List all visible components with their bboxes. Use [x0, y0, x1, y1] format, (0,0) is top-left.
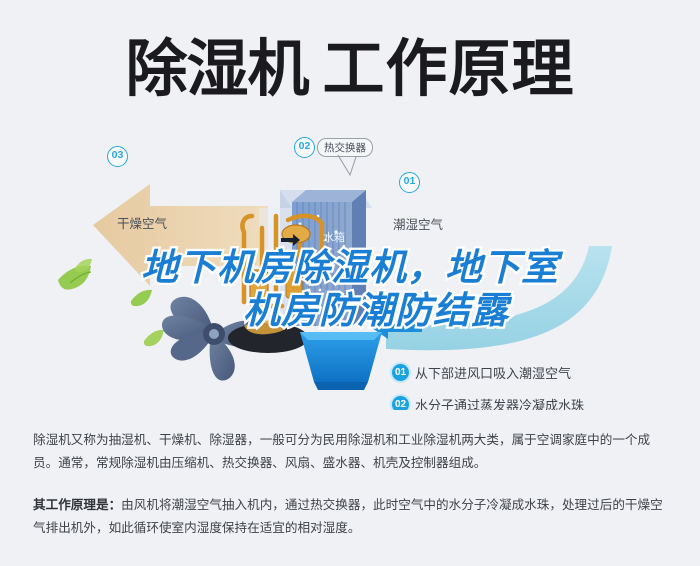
- humid-air-band: [386, 246, 612, 350]
- label-dry-air: 干燥空气: [117, 213, 167, 232]
- title-part-one: 除湿机: [125, 35, 308, 104]
- heat-exchanger-fins: [292, 190, 366, 326]
- page-root: 除湿机工作原理: [0, 0, 700, 566]
- badge-02-diagram: 02: [294, 137, 315, 158]
- title-part-two: 工作原理: [323, 35, 575, 104]
- paragraph-two-rest: 由风机将潮湿空气抽入机内，通过热交换器，此时空气中的水分子冷凝成水珠，处理过后的…: [33, 498, 663, 535]
- label-water-tank: 水箱: [323, 229, 345, 245]
- step-item: 01 从下部进风口吸入潮湿空气: [392, 363, 692, 382]
- article-body: 除湿机又称为抽湿机、干燥机、除湿器，一般可分为民用除湿机和工业除湿机两大类，属于…: [33, 416, 673, 552]
- label-humid-air: 潮湿空气: [393, 214, 443, 233]
- water-tank: [300, 332, 382, 390]
- badge-03-diagram: 03: [107, 146, 128, 167]
- step-item: 02 水分子通过蒸发器冷凝成水珠: [392, 395, 692, 410]
- paragraph-two-lead: 其工作原理是：: [33, 498, 121, 512]
- step-number-badge: 01: [392, 364, 409, 381]
- badge-01-diagram: 01: [399, 172, 420, 193]
- callout-pointer-icon: [336, 153, 362, 179]
- step-number-badge: 02: [392, 396, 409, 410]
- page-title: 除湿机工作原理: [0, 22, 700, 118]
- step-text: 从下部进风口吸入潮湿空气: [415, 363, 571, 382]
- step-list: 01 从下部进风口吸入潮湿空气 02 水分子通过蒸发器冷凝成水珠 03 从上部出…: [392, 363, 692, 410]
- paragraph-two: 其工作原理是：由风机将潮湿空气抽入机内，通过热交换器，此时空气中的水分子冷凝成水…: [33, 494, 673, 540]
- paragraph-one: 除湿机又称为抽湿机、干燥机、除湿器，一般可分为民用除湿机和工业除湿机两大类，属于…: [33, 429, 673, 475]
- dehumidifier-diagram: 03 干燥空气 02 热交换器 01 潮湿空气 水箱 01 从下部进风口吸入潮湿…: [0, 120, 700, 410]
- step-text: 水分子通过蒸发器冷凝成水珠: [415, 395, 584, 410]
